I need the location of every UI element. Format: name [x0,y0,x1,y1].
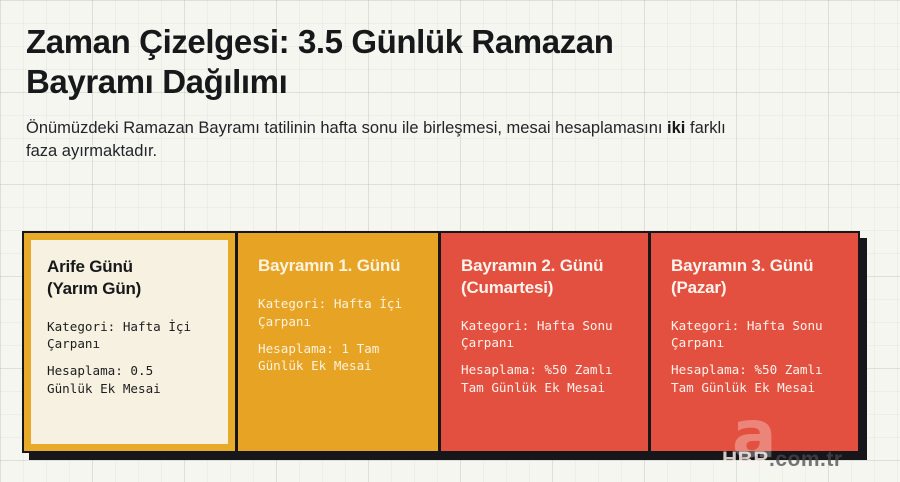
timeline-cards: Arife Günü (Yarım Gün) Kategori: Hafta İ… [22,231,867,460]
header: Zaman Çizelgesi: 3.5 Günlük Ramazan Bayr… [26,22,826,163]
page-background: Zaman Çizelgesi: 3.5 Günlük Ramazan Bayr… [0,0,900,482]
card-title: Arife Günü (Yarım Gün) [47,256,214,300]
card-category: Kategori: Hafta İçi Çarpanı [258,295,420,331]
page-title: Zaman Çizelgesi: 3.5 Günlük Ramazan Bayr… [26,22,826,103]
card-details: Kategori: Hafta Sonu Çarpanı Hesaplama: … [671,317,840,398]
card-calculation: Hesaplama: 0.5 Günlük Ek Mesai [47,362,214,398]
card-details: Kategori: Hafta İçi Çarpanı Hesaplama: 1… [258,295,420,376]
cards-strip: Arife Günü (Yarım Gün) Kategori: Hafta İ… [22,231,860,453]
page-subtitle: Önümüzdeki Ramazan Bayramı tatilinin haf… [26,117,756,164]
card-category: Kategori: Hafta Sonu Çarpanı [461,317,630,353]
card-calculation: Hesaplama: 1 Tam Günlük Ek Mesai [258,340,420,376]
subtitle-emphasis: iki [667,119,685,137]
card-category: Kategori: Hafta İçi Çarpanı [47,318,214,354]
card-details: Kategori: Hafta Sonu Çarpanı Hesaplama: … [461,317,630,398]
card-title: Bayramın 1. Günü [258,255,420,277]
card-title: Bayramın 3. Günü (Pazar) [671,255,840,299]
timeline-card-day-2[interactable]: Bayramın 2. Günü (Cumartesi) Kategori: H… [438,233,648,451]
timeline-card-arife[interactable]: Arife Günü (Yarım Gün) Kategori: Hafta İ… [24,233,235,451]
card-calculation: Hesaplama: %50 Zamlı Tam Günlük Ek Mesai [461,361,630,397]
subtitle-part-1: Önümüzdeki Ramazan Bayramı tatilinin haf… [26,119,667,137]
timeline-card-day-1[interactable]: Bayramın 1. Günü Kategori: Hafta İçi Çar… [235,233,438,451]
timeline-card-day-3[interactable]: Bayramın 3. Günü (Pazar) Kategori: Hafta… [648,233,858,451]
card-title: Bayramın 2. Günü (Cumartesi) [461,255,630,299]
card-calculation: Hesaplama: %50 Zamlı Tam Günlük Ek Mesai [671,361,840,397]
card-category: Kategori: Hafta Sonu Çarpanı [671,317,840,353]
card-details: Kategori: Hafta İçi Çarpanı Hesaplama: 0… [47,318,214,399]
